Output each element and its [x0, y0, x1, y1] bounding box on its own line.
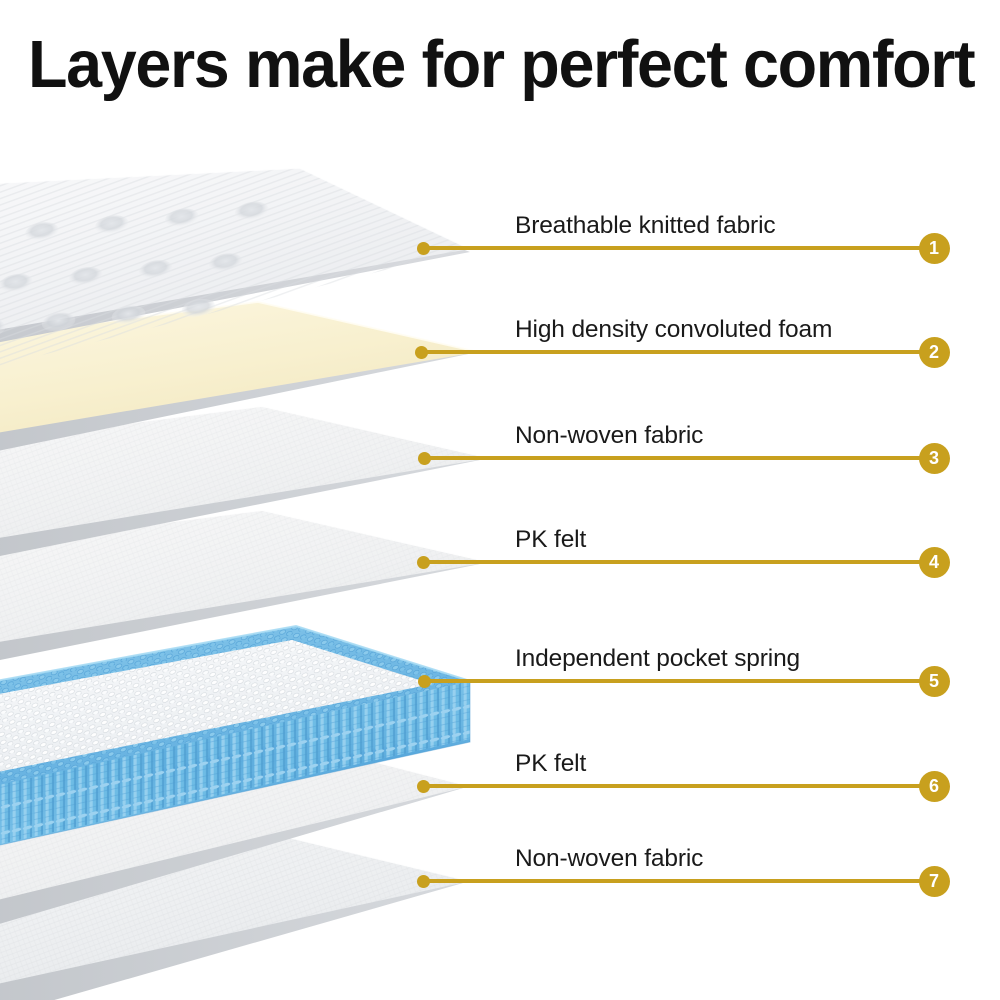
callout-label-pocket-spring: Independent pocket spring [515, 645, 800, 673]
callout-anchor-dot [417, 242, 430, 255]
layer-non-woven-fabric-top [0, 406, 490, 608]
callout-badge-6[interactable]: 6 [919, 771, 950, 802]
callout-label-non-woven-fabric-bottom: Non-woven fabric [515, 845, 703, 873]
callout-anchor-dot [417, 780, 430, 793]
callout-badge-4[interactable]: 4 [919, 547, 950, 578]
callout-badge-3[interactable]: 3 [919, 443, 950, 474]
callout-badge-5[interactable]: 5 [919, 666, 950, 697]
infographic-canvas: Layers make for perfect comfort [0, 0, 1000, 1000]
callout-label-knitted-fabric: Breathable knitted fabric [515, 212, 775, 240]
layer-knitted-fabric [0, 150, 510, 515]
callout-label-pk-felt-top: PK felt [515, 526, 586, 554]
callout-line [423, 784, 922, 788]
callout-label-non-woven-fabric-top: Non-woven fabric [515, 422, 703, 450]
callout-line [424, 679, 922, 683]
layer-pk-felt-top [0, 510, 490, 712]
callout-line [421, 350, 922, 354]
callout-line [423, 560, 922, 564]
callout-line [423, 879, 922, 883]
callout-badge-2[interactable]: 2 [919, 337, 950, 368]
callout-anchor-dot [418, 452, 431, 465]
callout-anchor-dot [417, 556, 430, 569]
layer-convoluted-foam [0, 302, 478, 504]
layer-non-woven-fabric-bottom [0, 828, 470, 1000]
mattress-layer-illustration [0, 0, 1000, 1000]
callout-label-convoluted-foam: High density convoluted foam [515, 316, 832, 344]
callout-anchor-dot [417, 875, 430, 888]
callout-line [423, 246, 922, 250]
layer-pk-felt-bottom [0, 730, 470, 1000]
layer-pocket-spring [0, 552, 520, 966]
callout-line [424, 456, 922, 460]
page-title: Layers make for perfect comfort [28, 28, 945, 102]
callout-badge-1[interactable]: 1 [919, 233, 950, 264]
callout-badge-7[interactable]: 7 [919, 866, 950, 897]
callout-anchor-dot [418, 675, 431, 688]
callout-anchor-dot [415, 346, 428, 359]
callout-label-pk-felt-bottom: PK felt [515, 750, 586, 778]
